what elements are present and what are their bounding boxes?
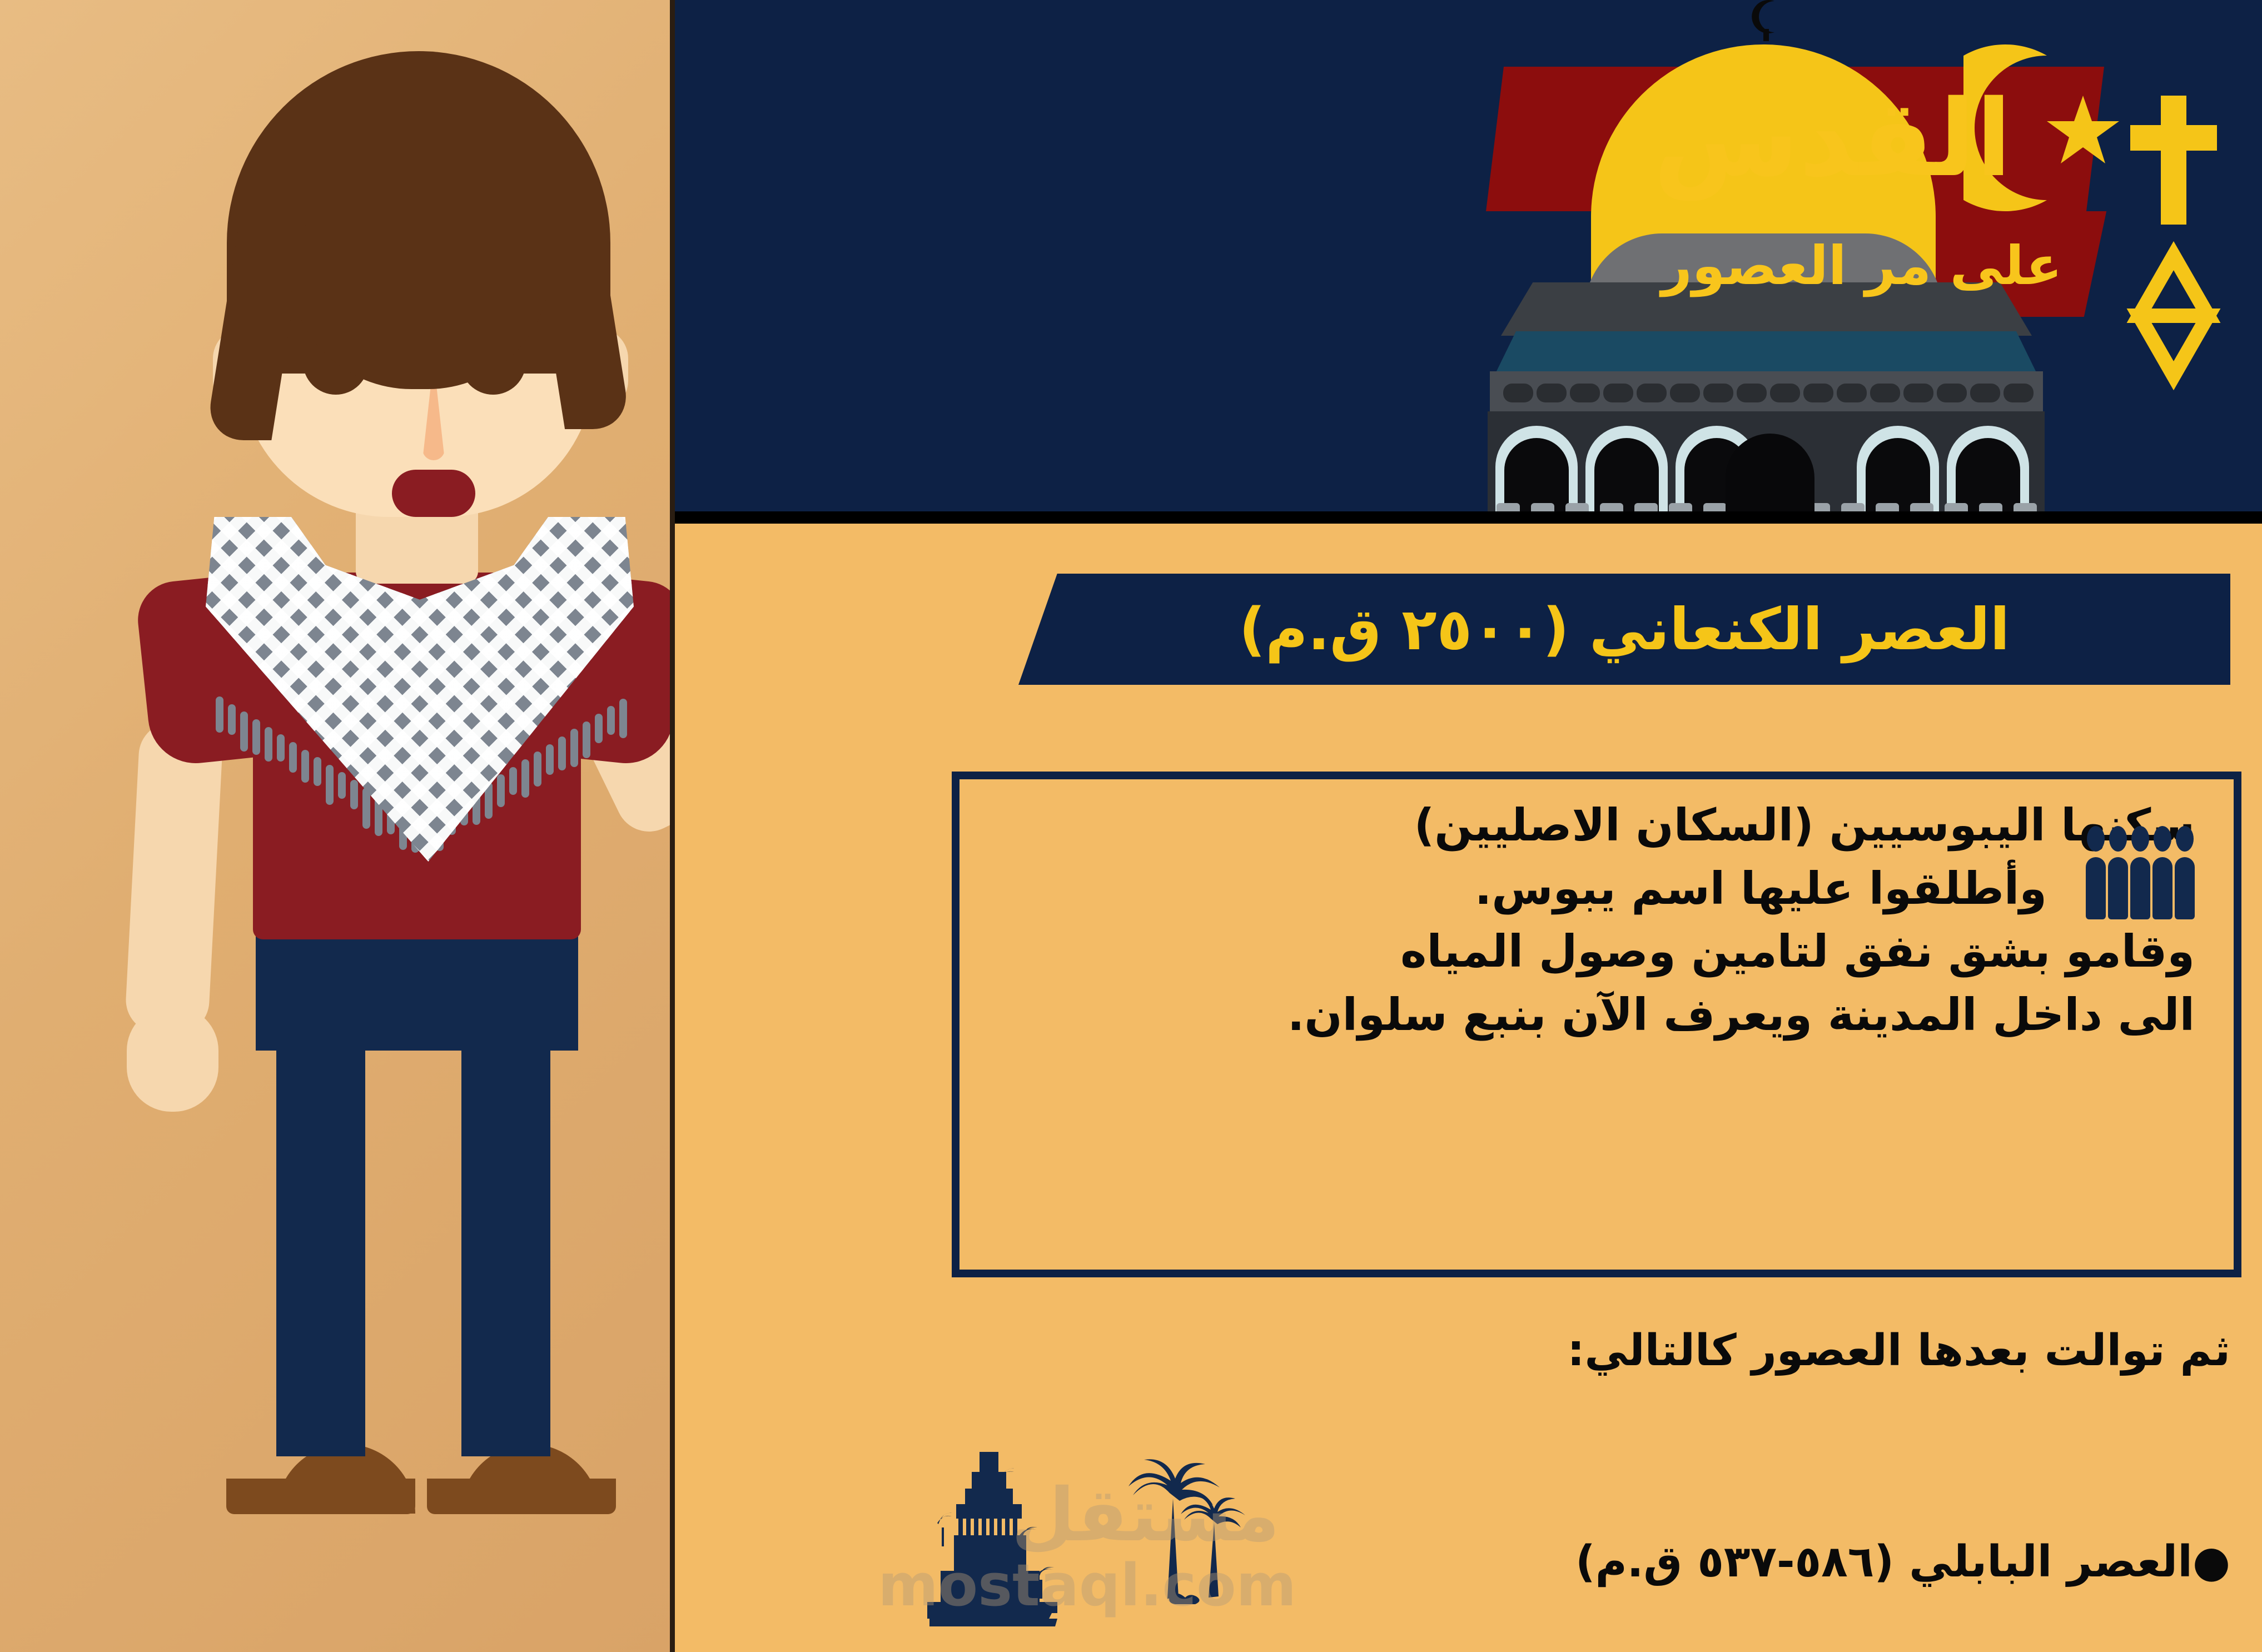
palestinian-character-illustration	[0, 0, 674, 1652]
palm-tree-icon	[1128, 1459, 1245, 1604]
mosque-arch	[1857, 426, 1939, 511]
star-of-david-icon	[2139, 256, 2208, 376]
mosque-arch	[1585, 426, 1668, 511]
cross-icon	[2130, 96, 2217, 225]
body-line-2-row: وأطلقوا عليها اسم يبوس.	[998, 857, 2195, 920]
content-column: القدس على مر العصور العصر الكنعاني (٢٥٠٠…	[674, 0, 2262, 1652]
mosque-arch	[1947, 426, 2029, 511]
infographic-poster: القدس على مر العصور العصر الكنعاني (٢٥٠٠…	[0, 0, 2262, 1652]
mosque-roof-band	[1494, 331, 2038, 376]
people-group-icon	[2086, 857, 2195, 919]
body-text-box: سكنها اليبوسيين (السكان الاصليين) وأطلقو…	[952, 772, 2241, 1277]
ziggurat-icon	[896, 1452, 1285, 1652]
arm-left	[124, 720, 223, 1036]
poster-title: القدس	[1506, 69, 2079, 208]
body-line-1: سكنها اليبوسيين (السكان الاصليين)	[998, 794, 2195, 857]
body-line-4: الى داخل المدينة ويعرف الآن بنبع سلوان.	[998, 983, 2195, 1047]
left-illustration-panel	[0, 0, 674, 1652]
panel-divider	[670, 0, 675, 1652]
hand-left	[127, 1006, 218, 1112]
body-line-2: وأطلقوا عليها اسم يبوس.	[1475, 857, 2047, 920]
followup-intro: ثم توالت بعدها العصور كالتالي:	[985, 1323, 2230, 1379]
section-header-label: العصر الكنعاني (٢٥٠٠ ق.م)	[1239, 600, 2010, 658]
mosque-cornice	[1490, 371, 2043, 415]
crescent-finial-icon	[1747, 0, 1786, 41]
poster-subtitle: على مر العصور	[1645, 217, 2079, 314]
hero-bottom-rule	[674, 511, 2262, 524]
mosque-arch	[1495, 426, 1578, 511]
mouth	[392, 470, 475, 517]
section-header-banner: العصر الكنعاني (٢٥٠٠ ق.م)	[1018, 574, 2230, 685]
ziggurat-top-tower	[980, 1452, 998, 1474]
hero-banner: القدس على مر العصور	[674, 0, 2262, 511]
body-line-3: وقامو بشق نفق لتامين وصول المياه	[998, 920, 2195, 983]
